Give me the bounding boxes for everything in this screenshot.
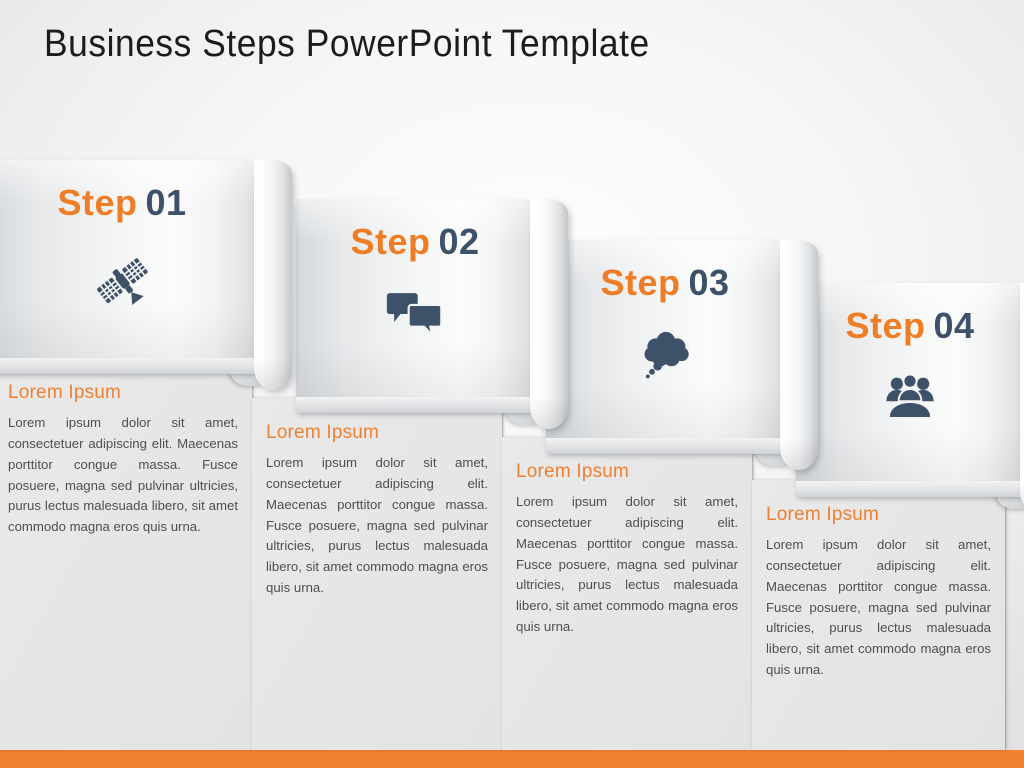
ribbon-bottom-lip-4 xyxy=(796,481,1024,497)
step-label-2: Step02 xyxy=(350,221,479,263)
panel-heading-3: Lorem Ipsum xyxy=(516,461,738,483)
step-number-2: 02 xyxy=(438,221,479,262)
step-word-4: Step xyxy=(845,305,925,346)
step-number-3: 03 xyxy=(688,262,729,303)
panel-body-2: Lorem ipsum dolor sit amet, consectetuer… xyxy=(266,453,488,599)
ribbon-curl-1 xyxy=(254,160,292,390)
step-label-3: Step03 xyxy=(600,262,729,304)
ribbon-bottom-lip-2 xyxy=(296,397,534,413)
step-ribbon-1[interactable]: Step01 xyxy=(0,160,258,360)
step-label-4: Step04 xyxy=(845,305,974,347)
step-panel-4[interactable]: Lorem Ipsum Lorem ipsum dolor sit amet, … xyxy=(752,480,1005,750)
ribbon-curl-2 xyxy=(530,199,568,429)
panel-body-4: Lorem ipsum dolor sit amet, consectetuer… xyxy=(766,535,991,681)
bottom-accent-bar xyxy=(0,750,1024,768)
thought-cloud-icon xyxy=(635,330,695,382)
step-ribbon-4[interactable]: Step04 xyxy=(796,283,1024,483)
ribbon-bottom-lip-1 xyxy=(0,358,258,374)
step-panel-3[interactable]: Lorem Ipsum Lorem ipsum dolor sit amet, … xyxy=(502,437,752,750)
ribbon-bottom-lip-3 xyxy=(546,438,784,454)
page-title: Business Steps PowerPoint Template xyxy=(44,23,650,66)
step-ribbon-3[interactable]: Step03 xyxy=(546,240,784,440)
step-word-2: Step xyxy=(350,221,430,262)
step-word-1: Step xyxy=(57,182,137,223)
step-number-1: 01 xyxy=(145,182,186,223)
panel-body-3: Lorem ipsum dolor sit amet, consectetuer… xyxy=(516,492,738,638)
panel-body-1: Lorem ipsum dolor sit amet, consectetuer… xyxy=(8,413,238,538)
ribbon-curl-3 xyxy=(780,240,818,470)
step-word-3: Step xyxy=(600,262,680,303)
panel-heading-1: Lorem Ipsum xyxy=(8,382,238,404)
step-panel-2[interactable]: Lorem Ipsum Lorem ipsum dolor sit amet, … xyxy=(252,398,502,750)
chat-bubbles-icon xyxy=(386,289,444,339)
panel-heading-2: Lorem Ipsum xyxy=(266,422,488,444)
step-ribbon-2[interactable]: Step02 xyxy=(296,199,534,399)
satellite-icon xyxy=(91,250,153,312)
step-number-4: 04 xyxy=(933,305,974,346)
panel-heading-4: Lorem Ipsum xyxy=(766,504,991,526)
people-group-icon xyxy=(882,373,938,419)
step-label-1: Step01 xyxy=(57,182,186,224)
step-panel-1[interactable]: Lorem Ipsum Lorem ipsum dolor sit amet, … xyxy=(0,358,252,750)
